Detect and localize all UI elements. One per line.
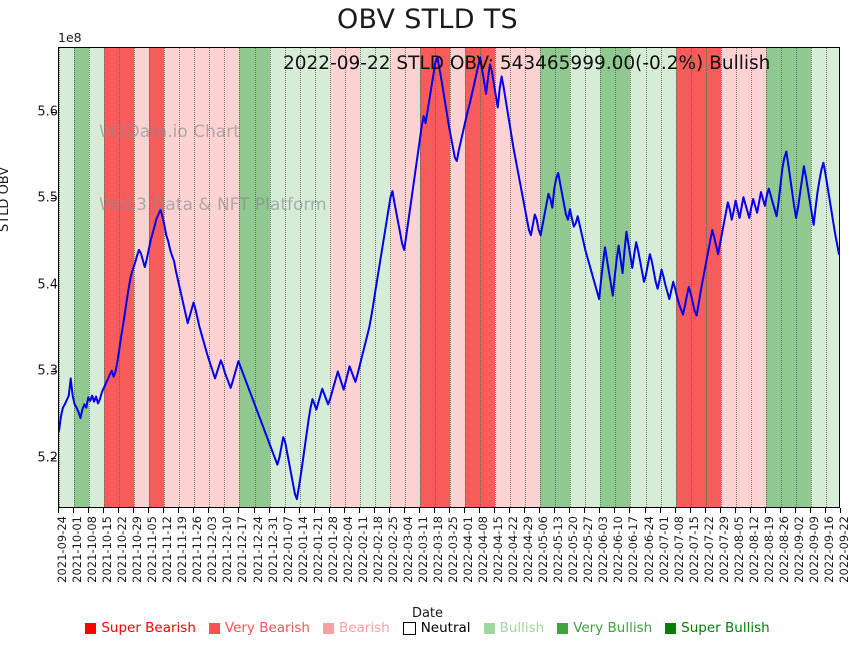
x-axis-tick-label: 2022-01-28 bbox=[326, 516, 340, 583]
x-axis-tick-mark bbox=[780, 508, 781, 513]
x-axis-tick-label: 2022-06-10 bbox=[611, 516, 625, 583]
x-axis-tick-label: 2022-07-08 bbox=[672, 516, 686, 583]
x-axis-tick-mark bbox=[464, 508, 465, 513]
x-axis-tick-label: 2022-05-06 bbox=[536, 516, 550, 583]
x-axis-tick-mark bbox=[193, 508, 194, 513]
x-axis-tick-label: 2022-06-24 bbox=[642, 516, 656, 583]
plot-area bbox=[58, 47, 840, 508]
x-axis-tick-mark bbox=[645, 508, 646, 513]
legend-swatch-icon bbox=[557, 623, 568, 634]
x-axis-tick-label: 2022-07-01 bbox=[657, 516, 671, 583]
x-axis-tick-label: 2021-12-03 bbox=[205, 516, 219, 583]
legend-item[interactable]: Bullish bbox=[484, 620, 545, 636]
legend-label: Bullish bbox=[500, 620, 545, 636]
x-axis-tick-mark bbox=[178, 508, 179, 513]
x-axis-tick-label: 2022-08-19 bbox=[762, 516, 776, 583]
x-axis-tick-label: 2022-06-17 bbox=[626, 516, 640, 583]
x-axis-tick-mark bbox=[554, 508, 555, 513]
x-axis-tick-mark bbox=[629, 508, 630, 513]
x-axis-tick-mark bbox=[419, 508, 420, 513]
x-axis-tick-mark bbox=[750, 508, 751, 513]
x-axis-tick-mark bbox=[449, 508, 450, 513]
chart-page: OBV STLD TS 1e8 STLD OBV 5.25.35.45.55.6… bbox=[0, 0, 855, 646]
x-axis-tick-mark bbox=[404, 508, 405, 513]
x-axis-tick-mark bbox=[434, 508, 435, 513]
legend-label: Bearish bbox=[339, 620, 390, 636]
y-axis-exponent: 1e8 bbox=[58, 30, 82, 45]
x-axis-tick-mark bbox=[148, 508, 149, 513]
x-axis-tick-mark bbox=[103, 508, 104, 513]
page-title: OBV STLD TS bbox=[0, 4, 855, 35]
x-axis-tick-label: 2021-10-15 bbox=[100, 516, 114, 583]
x-axis-tick-label: 2022-08-12 bbox=[747, 516, 761, 583]
x-axis-tick-label: 2022-09-09 bbox=[807, 516, 821, 583]
x-axis-tick-mark bbox=[765, 508, 766, 513]
x-axis-tick-mark bbox=[389, 508, 390, 513]
x-axis-tick-mark bbox=[118, 508, 119, 513]
x-axis-tick-mark bbox=[284, 508, 285, 513]
x-axis-tick-mark bbox=[494, 508, 495, 513]
y-axis-tick-mark bbox=[51, 458, 56, 459]
x-axis-tick-mark bbox=[735, 508, 736, 513]
x-axis-tick-mark bbox=[614, 508, 615, 513]
x-axis-tick-label: 2021-10-08 bbox=[85, 516, 99, 583]
x-axis-tick-mark bbox=[374, 508, 375, 513]
obv-line-path bbox=[59, 57, 839, 500]
x-axis-tick-label: 2022-03-25 bbox=[446, 516, 460, 583]
legend-item[interactable]: Bearish bbox=[323, 620, 390, 636]
x-axis-tick-mark bbox=[539, 508, 540, 513]
x-axis-tick-mark bbox=[690, 508, 691, 513]
legend-label: Very Bearish bbox=[225, 620, 310, 636]
x-axis-tick-label: 2022-09-22 bbox=[837, 516, 851, 583]
x-axis-tick-mark bbox=[329, 508, 330, 513]
x-axis-tick-label: 2022-03-11 bbox=[416, 516, 430, 583]
x-axis-tick-label: 2022-09-16 bbox=[822, 516, 836, 583]
x-axis-tick-mark bbox=[254, 508, 255, 513]
legend-label: Neutral bbox=[421, 620, 471, 636]
x-axis-tick-mark bbox=[269, 508, 270, 513]
x-axis-tick-label: 2022-07-15 bbox=[687, 516, 701, 583]
x-axis-tick-mark bbox=[720, 508, 721, 513]
x-axis-tick-mark bbox=[58, 508, 59, 513]
legend: Super BearishVery BearishBearishNeutralB… bbox=[0, 620, 855, 636]
x-axis-tick-mark bbox=[795, 508, 796, 513]
y-axis-tick-mark bbox=[51, 371, 56, 372]
y-axis-tick-mark bbox=[51, 112, 56, 113]
x-axis-tick-label: 2022-07-22 bbox=[702, 516, 716, 583]
legend-label: Very Bullish bbox=[573, 620, 652, 636]
x-axis-tick-mark bbox=[88, 508, 89, 513]
x-axis-tick-mark bbox=[675, 508, 676, 513]
x-axis-tick-label: 2022-01-14 bbox=[296, 516, 310, 583]
x-axis-tick-mark bbox=[509, 508, 510, 513]
y-axis-tick-mark bbox=[51, 198, 56, 199]
obv-line-series bbox=[59, 48, 839, 508]
x-axis-tick-label: 2022-08-05 bbox=[732, 516, 746, 583]
y-axis-tick-mark bbox=[51, 285, 56, 286]
x-axis-tick-label: 2021-09-24 bbox=[55, 516, 69, 583]
x-axis-tick-mark bbox=[299, 508, 300, 513]
x-axis-ticks: 2021-09-242021-10-012021-10-082021-10-15… bbox=[58, 508, 840, 608]
x-axis-tick-mark bbox=[359, 508, 360, 513]
x-axis-tick-mark bbox=[840, 508, 841, 513]
x-axis-tick-label: 2021-10-29 bbox=[130, 516, 144, 583]
legend-swatch-icon bbox=[484, 623, 495, 634]
x-axis-tick-mark bbox=[660, 508, 661, 513]
x-axis-tick-label: 2022-08-26 bbox=[777, 516, 791, 583]
legend-swatch-icon bbox=[209, 623, 220, 634]
x-axis-tick-label: 2022-02-04 bbox=[341, 516, 355, 583]
x-axis-tick-label: 2021-11-12 bbox=[160, 516, 174, 583]
x-axis-tick-label: 2021-12-24 bbox=[251, 516, 265, 583]
x-axis-tick-label: 2022-05-13 bbox=[551, 516, 565, 583]
x-axis-tick-label: 2022-01-21 bbox=[311, 516, 325, 583]
legend-swatch-icon bbox=[323, 623, 334, 634]
legend-swatch-icon bbox=[665, 623, 676, 634]
x-axis-tick-mark bbox=[524, 508, 525, 513]
legend-item[interactable]: Very Bullish bbox=[557, 620, 652, 636]
y-axis-ticks: 5.25.35.45.55.6 bbox=[0, 47, 58, 508]
x-axis-tick-label: 2021-12-17 bbox=[235, 516, 249, 583]
x-axis-tick-mark bbox=[479, 508, 480, 513]
x-axis-tick-label: 2021-10-22 bbox=[115, 516, 129, 583]
legend-item[interactable]: Neutral bbox=[403, 620, 471, 636]
current-value-annotation: 2022-09-22 STLD OBV: 543465999.00(-0.2%)… bbox=[283, 53, 770, 74]
x-axis-tick-mark bbox=[163, 508, 164, 513]
x-axis-tick-label: 2022-04-08 bbox=[476, 516, 490, 583]
x-axis-tick-label: 2021-10-01 bbox=[70, 516, 84, 583]
x-axis-tick-mark bbox=[810, 508, 811, 513]
x-axis-tick-label: 2022-09-02 bbox=[792, 516, 806, 583]
x-axis-tick-label: 2022-06-03 bbox=[596, 516, 610, 583]
legend-label: Super Bullish bbox=[681, 620, 770, 636]
x-axis-tick-mark bbox=[238, 508, 239, 513]
x-axis-tick-mark bbox=[208, 508, 209, 513]
legend-item[interactable]: Super Bullish bbox=[665, 620, 770, 636]
x-axis-tick-mark bbox=[705, 508, 706, 513]
x-axis-tick-label: 2021-11-26 bbox=[190, 516, 204, 583]
x-axis-tick-mark bbox=[314, 508, 315, 513]
legend-swatch-icon bbox=[85, 623, 96, 634]
x-axis-tick-label: 2022-02-18 bbox=[371, 516, 385, 583]
x-axis-tick-mark bbox=[825, 508, 826, 513]
x-axis-tick-label: 2021-12-10 bbox=[220, 516, 234, 583]
x-axis-tick-label: 2022-03-18 bbox=[431, 516, 445, 583]
x-axis-tick-label: 2022-02-25 bbox=[386, 516, 400, 583]
x-axis-tick-label: 2022-04-15 bbox=[491, 516, 505, 583]
x-axis-tick-label: 2022-05-20 bbox=[566, 516, 580, 583]
x-axis-tick-mark bbox=[344, 508, 345, 513]
legend-swatch-icon bbox=[403, 622, 416, 635]
legend-item[interactable]: Super Bearish bbox=[85, 620, 196, 636]
x-axis-tick-mark bbox=[223, 508, 224, 513]
legend-item[interactable]: Very Bearish bbox=[209, 620, 310, 636]
x-axis-tick-mark bbox=[73, 508, 74, 513]
x-axis-tick-label: 2022-04-01 bbox=[461, 516, 475, 583]
x-axis-tick-label: 2022-05-27 bbox=[581, 516, 595, 583]
x-axis-tick-label: 2022-02-11 bbox=[356, 516, 370, 583]
x-axis-tick-label: 2022-04-29 bbox=[521, 516, 535, 583]
x-axis-label: Date bbox=[0, 606, 855, 621]
x-axis-tick-mark bbox=[599, 508, 600, 513]
x-axis-tick-mark bbox=[584, 508, 585, 513]
x-axis-tick-label: 2022-01-07 bbox=[281, 516, 295, 583]
x-axis-tick-mark bbox=[133, 508, 134, 513]
x-axis-tick-label: 2022-03-04 bbox=[401, 516, 415, 583]
x-axis-tick-mark bbox=[569, 508, 570, 513]
x-axis-tick-label: 2021-11-19 bbox=[175, 516, 189, 583]
x-axis-tick-label: 2021-12-31 bbox=[266, 516, 280, 583]
x-axis-tick-label: 2021-11-05 bbox=[145, 516, 159, 583]
x-axis-tick-label: 2022-07-29 bbox=[717, 516, 731, 583]
x-axis-tick-label: 2022-04-22 bbox=[506, 516, 520, 583]
legend-label: Super Bearish bbox=[101, 620, 196, 636]
